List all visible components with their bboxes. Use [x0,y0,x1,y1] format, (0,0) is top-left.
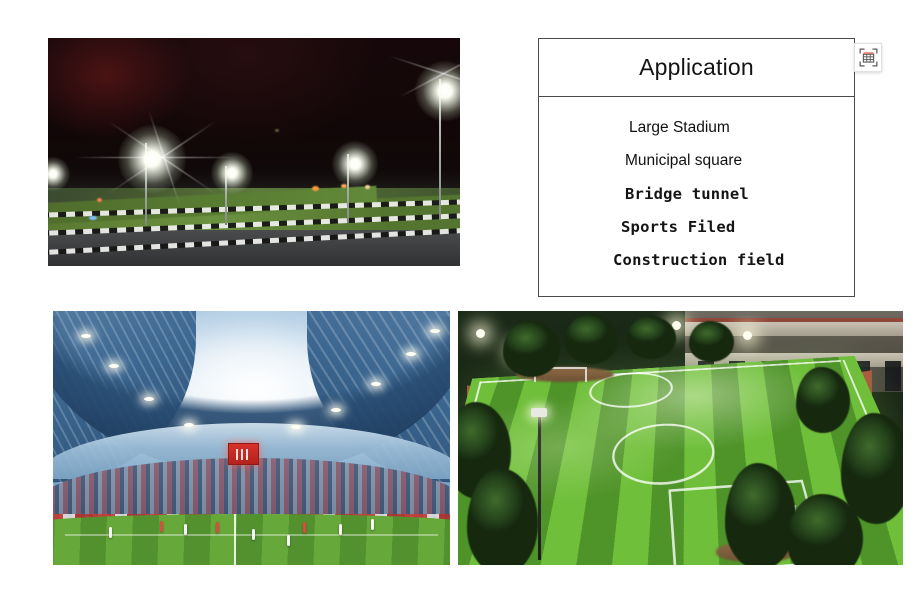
application-list-item: Municipal square [539,144,854,177]
application-item-label: Municipal square [625,152,742,170]
roof-lamp [81,334,91,338]
photo-night-circuit: Night racing circuit lit by high-mast fl… [48,38,460,266]
application-item-label: Construction field [613,251,785,269]
player [339,524,342,535]
player [216,522,219,533]
aerial-pitch-scene [458,311,903,565]
lens-ray [73,157,243,158]
tree [841,413,903,525]
table-scan-icon [859,48,878,67]
player [371,519,374,530]
player [303,522,306,533]
application-item-label: Large Stadium [629,119,730,137]
application-item-label: Bridge tunnel [625,185,749,203]
roof-lamp [406,352,416,356]
distant-light [275,129,279,132]
building-window [885,361,901,390]
application-list-item: Bridge tunnel [539,177,854,210]
photo-aerial-pitch: Aerial night view of a floodlit striped … [458,311,903,565]
distant-light [89,216,97,220]
roof-lamp [430,329,440,333]
player [109,527,112,538]
building-red-band [685,318,903,322]
tree [503,321,561,377]
roof-lamp [184,423,194,427]
application-table-header: Application [539,39,854,97]
tree [796,367,849,433]
application-table: Application Large Stadium Municipal squa… [538,38,855,297]
application-table-body: Large Stadium Municipal square Bridge tu… [539,97,854,276]
tree [689,321,734,362]
floodlight-pole [538,413,541,560]
tree [565,314,618,365]
player [252,529,255,540]
distant-light [341,184,347,188]
table-tool-button[interactable] [854,43,882,72]
street-light [476,329,485,338]
player [287,535,290,546]
night-circuit-scene [48,38,460,266]
tree [627,316,676,359]
roof-lamp [371,382,381,386]
player [160,521,163,532]
pitch-line [234,514,236,565]
photo-stadium-interior: Large modern stadium interior with crowd… [53,311,450,565]
distant-light [312,186,319,191]
player [184,524,187,535]
application-list-item: Construction field [539,243,854,276]
roof-lamp [331,408,341,412]
application-list-item: Sports Filed [539,210,854,243]
stadium-interior-scene [53,311,450,565]
floodlight-flare-2 [211,152,253,194]
scoreboard [228,443,260,465]
application-list-item: Large Stadium [539,111,854,144]
floodlight-head [531,408,547,417]
application-item-label: Sports Filed [621,218,735,236]
application-table-title: Application [639,54,754,81]
floodlight-flare-3 [332,141,378,187]
